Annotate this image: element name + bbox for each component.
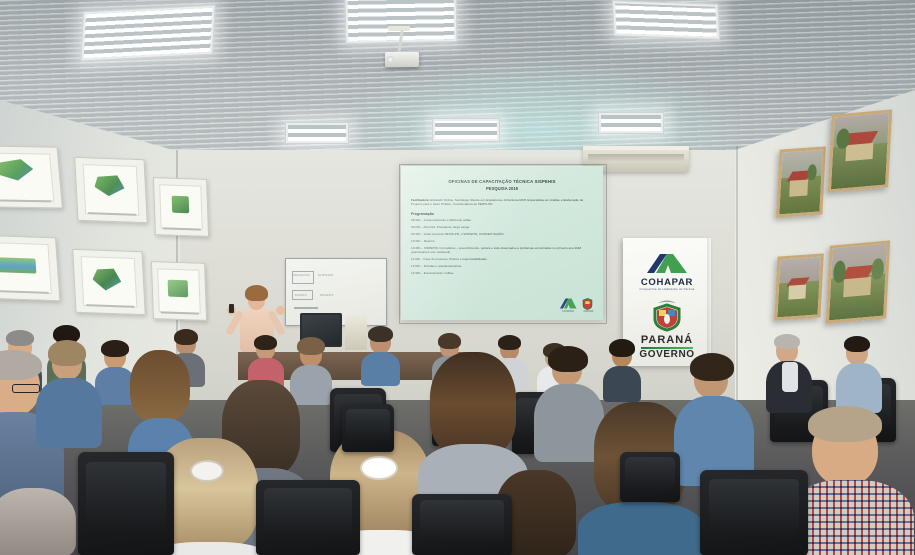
hair [297,337,325,355]
hair [174,329,198,345]
hair [844,336,870,352]
whiteboard-box-2 [292,290,313,300]
torso [603,366,641,402]
projector-lens-icon [387,56,394,63]
wall-corner-right [736,146,738,426]
wall-painting-3 [774,253,824,320]
conference-room-photo: OFICINAS DE CAPACITAÇÃO TÉCNICA SISPEHIS… [0,0,915,555]
projection-screen: OFICINAS DE CAPACITAÇÃO TÉCNICA SISPEHIS… [401,166,603,320]
ceiling-light-3 [612,0,720,40]
chair [620,452,680,502]
eyeglasses-icon [12,384,40,393]
hair [498,335,521,350]
chair [78,452,174,555]
hair [368,326,393,342]
ceiling-light-1 [80,5,215,62]
whiteboard-note: PESQUISA [293,273,310,277]
wall-print-6 [151,261,207,321]
hair [438,333,461,349]
torso [36,378,102,448]
banner-state: PARANÁ [623,334,711,346]
chair [342,404,394,452]
hair [254,335,277,350]
dress-shirt [782,362,798,392]
hair [808,406,882,442]
chair [412,494,512,555]
wall-painting-1 [776,146,826,217]
hair [48,340,86,366]
parana-coat-of-arms-icon [652,298,682,332]
hair-scrunchie-icon [360,456,398,480]
whiteboard-note: PRAZOS [320,293,334,297]
chair [700,470,808,555]
ceiling-light-6 [598,112,664,134]
ceiling-light-4 [285,122,349,144]
wall-painting-4 [826,240,890,323]
ceiling-light-5 [432,118,500,142]
hair [130,350,190,422]
hair-clip-icon [190,460,224,482]
projector-mount-plate [388,26,410,31]
presenter-right-hand [276,306,285,315]
chair [256,480,360,555]
cohapar-logo-icon [645,252,689,274]
wall-print-1 [0,145,63,208]
wall-print-2 [74,157,148,223]
hair [774,334,800,349]
torso [578,502,704,555]
hair [6,330,34,346]
hair [101,340,129,357]
wall-print-4 [0,235,60,302]
banner-tagline: Companhia de Habitação do Paraná [623,287,711,291]
presenter-hair [245,285,268,301]
presentation-remote [229,304,234,313]
torso [290,365,332,405]
hair [0,488,76,555]
hair [548,346,588,372]
hair [430,352,516,456]
banner-edge-shadow [707,238,711,366]
whiteboard-marker-tray [294,307,318,309]
hair [609,339,635,357]
wall-painting-2 [828,109,892,192]
wall-print-5 [72,249,146,315]
whiteboard-note: SISPEHIS [318,273,333,277]
torso [361,352,400,386]
cohapar-rollup-banner: COHAPAR Companhia de Habitação do Paraná… [623,238,711,366]
wall-print-3 [153,177,209,237]
screen-sheen [401,166,603,320]
ac-top-lip [583,146,689,150]
hair [690,353,734,381]
desktop-tower [345,316,367,350]
ac-vent-icon [588,154,684,161]
